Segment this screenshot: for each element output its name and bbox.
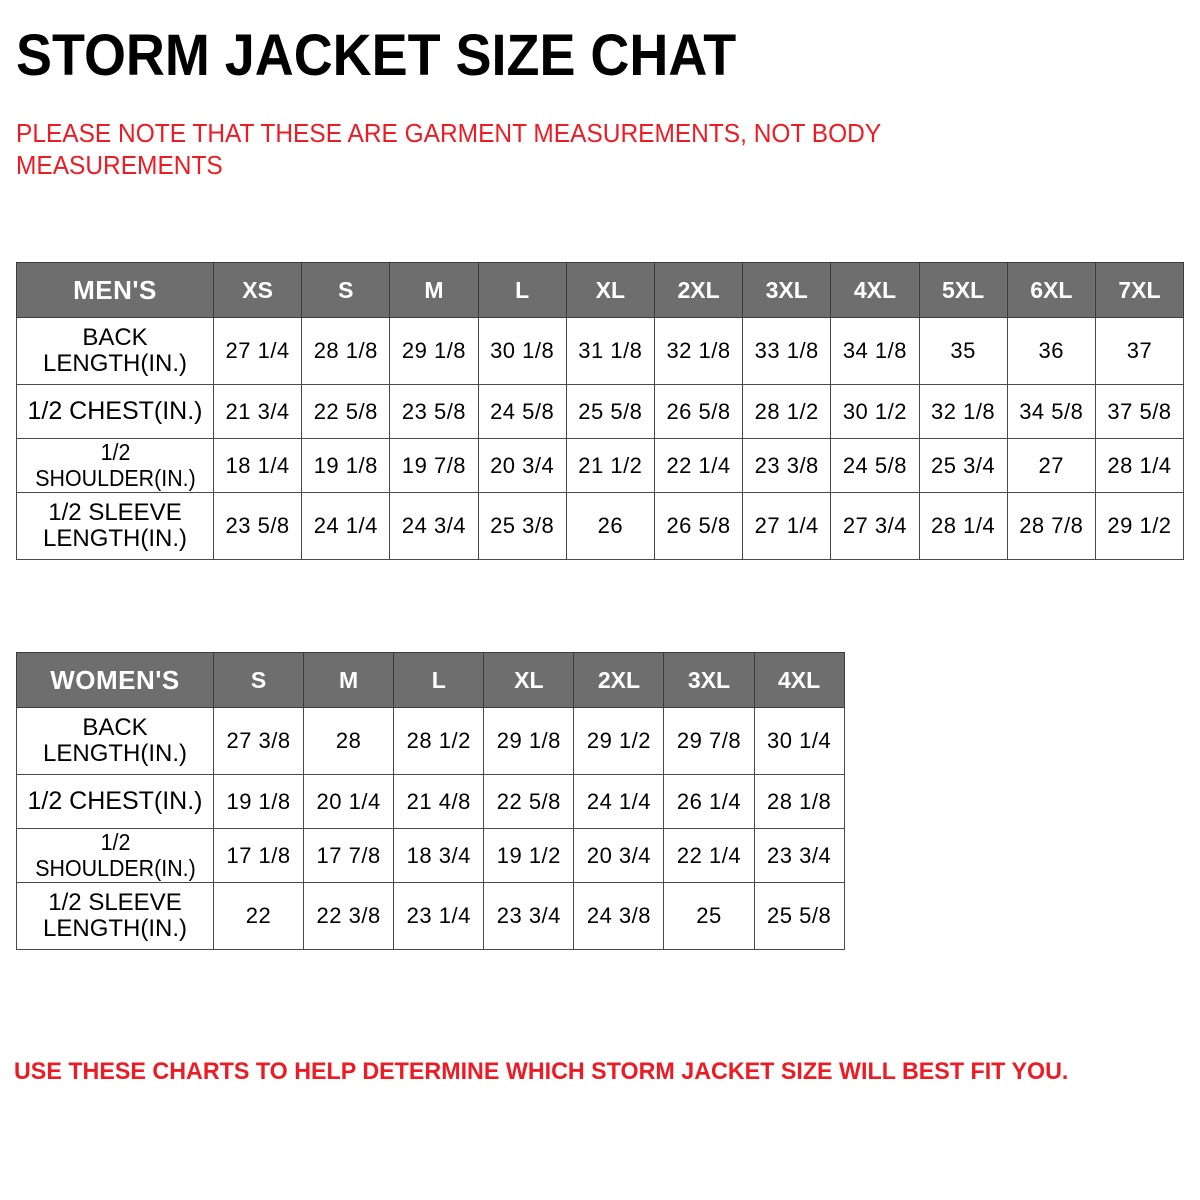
column-header-3xl: 3XL (664, 653, 754, 708)
row-label: 1/2 SHOULDER(IN.) (23, 829, 206, 883)
table-header-row: WOMEN'S SMLXL2XL3XL4XL (17, 653, 845, 708)
measurement-cell: 22 3/8 (304, 883, 394, 950)
measurement-cell: 21 4/8 (394, 775, 484, 829)
measurement-cell: 25 5/8 (754, 883, 844, 950)
table-row: 1/2 SHOULDER(IN.)18 1/419 1/819 7/820 3/… (17, 439, 1184, 493)
table-row: 1/2 SLEEVE LENGTH(IN.)23 5/824 1/424 3/4… (17, 493, 1184, 560)
column-header-l: L (478, 263, 566, 318)
column-header-4xl: 4XL (831, 263, 919, 318)
column-header-m: M (304, 653, 394, 708)
measurement-cell: 18 3/4 (394, 829, 484, 883)
column-header-m: M (390, 263, 478, 318)
table-row: BACK LENGTH(IN.)27 1/428 1/829 1/830 1/8… (17, 318, 1184, 385)
measurement-cell: 23 3/8 (743, 439, 831, 493)
row-label: 1/2 SHOULDER(IN.) (23, 439, 206, 493)
measurement-cell: 23 5/8 (390, 385, 478, 439)
measurement-cell: 30 1/4 (754, 708, 844, 775)
womens-table-body: BACK LENGTH(IN.)27 3/82828 1/229 1/829 1… (17, 708, 845, 950)
measurement-cell: 34 1/8 (831, 318, 919, 385)
row-label: BACK LENGTH(IN.) (17, 708, 214, 775)
row-label: 1/2 SLEEVE LENGTH(IN.) (17, 883, 214, 950)
measurement-cell: 25 3/8 (478, 493, 566, 560)
measurement-cell: 26 (566, 493, 654, 560)
measurement-cell: 23 3/4 (754, 829, 844, 883)
measurement-cell: 22 1/4 (654, 439, 742, 493)
measurement-cell: 28 7/8 (1007, 493, 1095, 560)
measurement-cell: 21 1/2 (566, 439, 654, 493)
column-header-3xl: 3XL (743, 263, 831, 318)
column-header-4xl: 4XL (754, 653, 844, 708)
measurement-cell: 20 3/4 (478, 439, 566, 493)
column-header-xl: XL (566, 263, 654, 318)
measurement-cell: 25 3/4 (919, 439, 1007, 493)
measurement-cell: 27 3/4 (831, 493, 919, 560)
measurement-cell: 35 (919, 318, 1007, 385)
measurement-cell: 24 5/8 (478, 385, 566, 439)
measurement-cell: 28 1/8 (754, 775, 844, 829)
measurement-cell: 34 5/8 (1007, 385, 1095, 439)
measurement-cell: 20 1/4 (304, 775, 394, 829)
measurement-cell: 25 (664, 883, 754, 950)
measurement-cell: 24 3/8 (574, 883, 664, 950)
measurement-cell: 36 (1007, 318, 1095, 385)
measurement-cell: 18 1/4 (214, 439, 302, 493)
mens-size-table: MEN'S XSSMLXL2XL3XL4XL5XL6XL7XL BACK LEN… (16, 262, 1184, 560)
mens-table-header: MEN'S XSSMLXL2XL3XL4XL5XL6XL7XL (17, 263, 1184, 318)
womens-header-corner: WOMEN'S (17, 653, 214, 708)
column-header-2xl: 2XL (654, 263, 742, 318)
column-header-2xl: 2XL (574, 653, 664, 708)
page-title: STORM JACKET SIZE CHAT (16, 24, 736, 88)
womens-table-header: WOMEN'S SMLXL2XL3XL4XL (17, 653, 845, 708)
measurement-cell: 29 7/8 (664, 708, 754, 775)
table-row: 1/2 SLEEVE LENGTH(IN.)2222 3/823 1/423 3… (17, 883, 845, 950)
measurement-cell: 19 7/8 (390, 439, 478, 493)
measurement-cell: 22 1/4 (664, 829, 754, 883)
column-header-5xl: 5XL (919, 263, 1007, 318)
measurement-cell: 19 1/8 (214, 775, 304, 829)
garment-measurement-note: PLEASE NOTE THAT THESE ARE GARMENT MEASU… (16, 118, 957, 182)
measurement-cell: 27 (1007, 439, 1095, 493)
measurement-cell: 28 1/8 (302, 318, 390, 385)
table-row: 1/2 SHOULDER(IN.)17 1/817 7/818 3/419 1/… (17, 829, 845, 883)
measurement-cell: 27 1/4 (214, 318, 302, 385)
column-header-7xl: 7XL (1095, 263, 1183, 318)
measurement-cell: 26 1/4 (664, 775, 754, 829)
measurement-cell: 24 1/4 (302, 493, 390, 560)
measurement-cell: 29 1/2 (1095, 493, 1183, 560)
measurement-cell: 26 5/8 (654, 385, 742, 439)
measurement-cell: 29 1/2 (574, 708, 664, 775)
column-header-xl: XL (484, 653, 574, 708)
measurement-cell: 23 1/4 (394, 883, 484, 950)
measurement-cell: 17 7/8 (304, 829, 394, 883)
measurement-cell: 31 1/8 (566, 318, 654, 385)
measurement-cell: 23 3/4 (484, 883, 574, 950)
measurement-cell: 22 (214, 883, 304, 950)
measurement-cell: 20 3/4 (574, 829, 664, 883)
row-label: BACK LENGTH(IN.) (17, 318, 214, 385)
measurement-cell: 26 5/8 (654, 493, 742, 560)
measurement-cell: 22 5/8 (302, 385, 390, 439)
column-header-6xl: 6XL (1007, 263, 1095, 318)
measurement-cell: 19 1/2 (484, 829, 574, 883)
measurement-cell: 37 (1095, 318, 1183, 385)
measurement-cell: 28 (304, 708, 394, 775)
mens-table-body: BACK LENGTH(IN.)27 1/428 1/829 1/830 1/8… (17, 318, 1184, 560)
use-charts-note: USE THESE CHARTS TO HELP DETERMINE WHICH… (14, 1057, 1135, 1087)
measurement-cell: 27 3/8 (214, 708, 304, 775)
table-row: 1/2 CHEST(IN.)21 3/422 5/823 5/824 5/825… (17, 385, 1184, 439)
measurement-cell: 27 1/4 (743, 493, 831, 560)
measurement-cell: 25 5/8 (566, 385, 654, 439)
measurement-cell: 37 5/8 (1095, 385, 1183, 439)
measurement-cell: 24 3/4 (390, 493, 478, 560)
measurement-cell: 28 1/2 (394, 708, 484, 775)
size-chart-page: STORM JACKET SIZE CHAT PLEASE NOTE THAT … (0, 0, 1200, 1200)
row-label: 1/2 SLEEVE LENGTH(IN.) (17, 493, 214, 560)
measurement-cell: 32 1/8 (919, 385, 1007, 439)
column-header-s: S (214, 653, 304, 708)
measurement-cell: 24 1/4 (574, 775, 664, 829)
measurement-cell: 30 1/8 (478, 318, 566, 385)
table-header-row: MEN'S XSSMLXL2XL3XL4XL5XL6XL7XL (17, 263, 1184, 318)
table-row: BACK LENGTH(IN.)27 3/82828 1/229 1/829 1… (17, 708, 845, 775)
column-header-xs: XS (214, 263, 302, 318)
measurement-cell: 23 5/8 (214, 493, 302, 560)
column-header-s: S (302, 263, 390, 318)
measurement-cell: 22 5/8 (484, 775, 574, 829)
measurement-cell: 29 1/8 (390, 318, 478, 385)
measurement-cell: 33 1/8 (743, 318, 831, 385)
measurement-cell: 28 1/4 (919, 493, 1007, 560)
table-row: 1/2 CHEST(IN.)19 1/820 1/421 4/822 5/824… (17, 775, 845, 829)
measurement-cell: 28 1/4 (1095, 439, 1183, 493)
row-label: 1/2 CHEST(IN.) (17, 775, 214, 829)
measurement-cell: 32 1/8 (654, 318, 742, 385)
measurement-cell: 19 1/8 (302, 439, 390, 493)
column-header-l: L (394, 653, 484, 708)
measurement-cell: 17 1/8 (214, 829, 304, 883)
row-label: 1/2 CHEST(IN.) (17, 385, 214, 439)
mens-header-corner: MEN'S (17, 263, 214, 318)
measurement-cell: 21 3/4 (214, 385, 302, 439)
measurement-cell: 30 1/2 (831, 385, 919, 439)
womens-size-table: WOMEN'S SMLXL2XL3XL4XL BACK LENGTH(IN.)2… (16, 652, 845, 950)
measurement-cell: 28 1/2 (743, 385, 831, 439)
measurement-cell: 24 5/8 (831, 439, 919, 493)
measurement-cell: 29 1/8 (484, 708, 574, 775)
